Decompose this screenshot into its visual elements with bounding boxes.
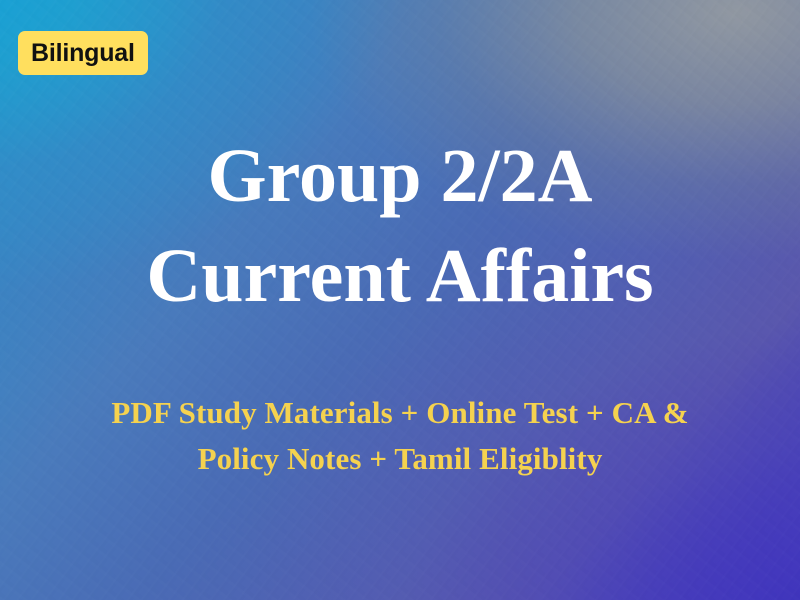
banner-content: Group 2/2A Current Affairs PDF Study Mat… bbox=[0, 0, 800, 600]
page-subtitle-line-2: Policy Notes + Tamil Eligiblity bbox=[50, 436, 750, 482]
page-title-line-2: Current Affairs bbox=[30, 226, 770, 326]
page-subtitle: PDF Study Materials + Online Test + CA &… bbox=[50, 326, 750, 482]
page-subtitle-line-1: PDF Study Materials + Online Test + CA & bbox=[50, 390, 750, 436]
page-title: Group 2/2A Current Affairs bbox=[30, 0, 770, 326]
page-title-line-1: Group 2/2A bbox=[30, 126, 770, 226]
promo-banner: Bilingual Group 2/2A Current Affairs PDF… bbox=[0, 0, 800, 600]
